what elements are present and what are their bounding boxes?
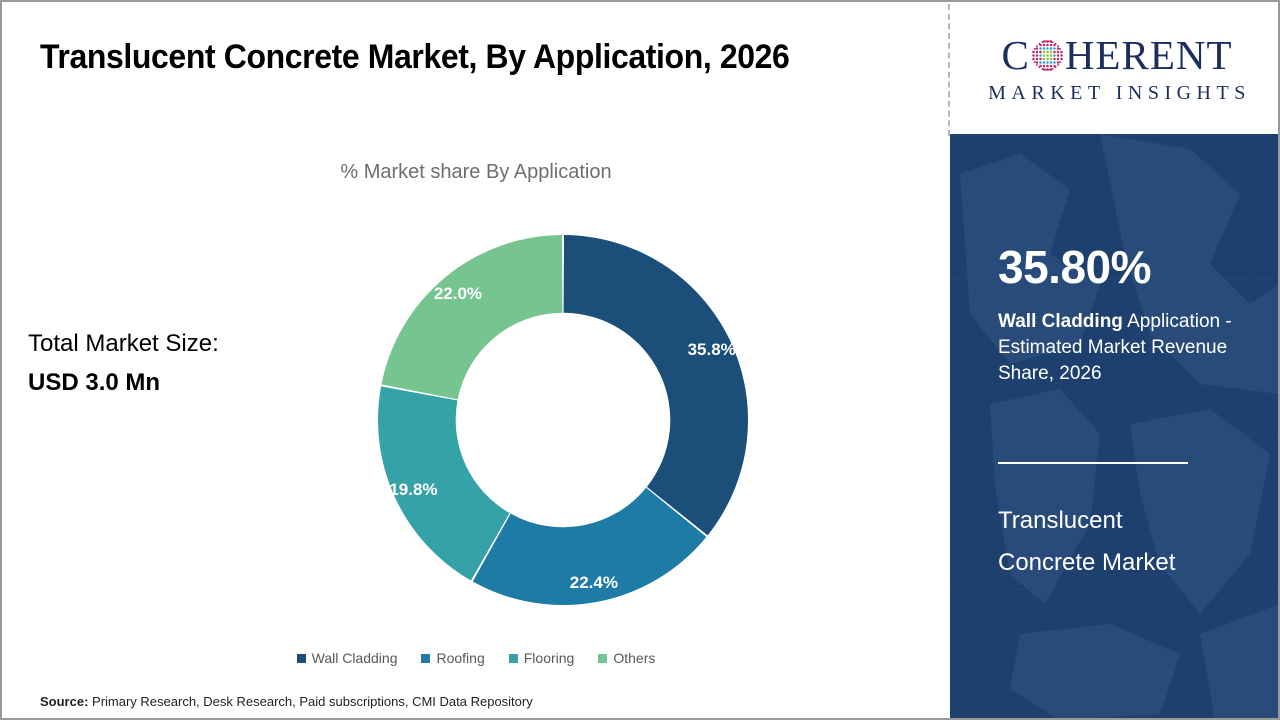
chart-subtitle: % Market share By Application	[2, 161, 950, 184]
logo-subtitle: MARKET INSIGHTS	[983, 82, 1251, 105]
legend-item[interactable]: Wall Cladding	[297, 650, 398, 666]
legend-swatch	[421, 654, 430, 663]
source-label: Source:	[40, 694, 88, 709]
source-text: Primary Research, Desk Research, Paid su…	[88, 694, 532, 709]
highlight-panel: 35.80% Wall Cladding Application - Estim…	[950, 134, 1280, 720]
donut-slice-label: 22.4%	[570, 573, 618, 592]
stat-description-bold: Wall Cladding	[998, 311, 1123, 332]
panel-market-name-line1: Translucent	[998, 500, 1258, 542]
total-market-size-label: Total Market Size:	[28, 330, 219, 357]
globe-dots-icon	[1031, 39, 1064, 72]
main-content-area: Translucent Concrete Market, By Applicat…	[2, 2, 950, 718]
source-note: Source: Primary Research, Desk Research,…	[40, 694, 533, 709]
chart-legend: Wall CladdingRoofingFlooringOthers	[2, 650, 950, 666]
legend-swatch	[598, 654, 607, 663]
legend-swatch	[509, 654, 518, 663]
legend-label: Flooring	[524, 650, 575, 666]
stat-percentage: 35.80%	[998, 244, 1151, 290]
world-map-texture	[950, 134, 1280, 720]
donut-slice-label: 19.8%	[389, 480, 437, 499]
brand-logo: C HERENT MARKET INSIGHTS	[954, 4, 1280, 134]
legend-item[interactable]: Flooring	[509, 650, 575, 666]
legend-item[interactable]: Roofing	[421, 650, 484, 666]
legend-label: Wall Cladding	[312, 650, 398, 666]
donut-slice-label: 35.8%	[688, 340, 736, 359]
logo-word-end: HERENT	[1065, 35, 1233, 76]
donut-slice	[381, 235, 562, 399]
legend-label: Others	[613, 650, 655, 666]
legend-label: Roofing	[436, 650, 484, 666]
panel-divider-rule	[998, 462, 1188, 464]
page-title: Translucent Concrete Market, By Applicat…	[40, 32, 830, 82]
logo-wordmark-row: C HERENT	[1001, 34, 1232, 78]
donut-chart-svg: 35.8%22.4%19.8%22.0%	[378, 235, 748, 605]
legend-swatch	[297, 654, 306, 663]
donut-slice-label: 22.0%	[434, 284, 482, 303]
panel-market-name: Translucent Concrete Market	[998, 500, 1258, 584]
vertical-dashed-divider	[948, 4, 950, 136]
infographic-page: Translucent Concrete Market, By Applicat…	[0, 0, 1280, 720]
panel-market-name-line2: Concrete Market	[998, 542, 1258, 584]
donut-slice	[564, 235, 748, 535]
total-market-size-value: USD 3.0 Mn	[28, 363, 328, 402]
total-market-size-block: Total Market Size: USD 3.0 Mn	[28, 324, 328, 402]
stat-description: Wall Cladding Application - Estimated Ma…	[998, 309, 1268, 387]
legend-item[interactable]: Others	[598, 650, 655, 666]
donut-chart: 35.8%22.4%19.8%22.0%	[378, 235, 748, 605]
logo-word-start: C	[1001, 35, 1029, 76]
